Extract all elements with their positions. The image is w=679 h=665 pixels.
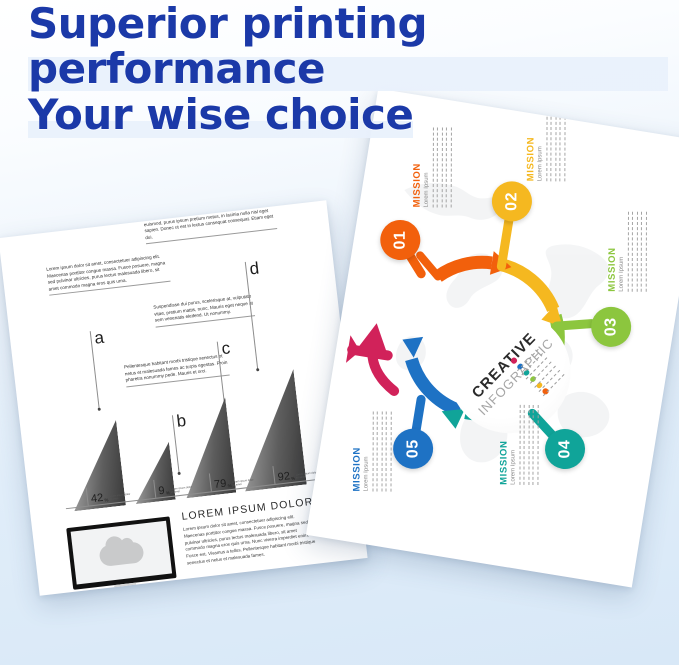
doc-text-block-a: Lorem ipsum dolor sit amet, consectetuer… <box>46 253 171 296</box>
label-03-mission: MISSION <box>607 212 618 292</box>
node-01-number: 01 <box>391 231 409 250</box>
label-01-mission: MISSION <box>412 127 423 207</box>
monitor-screen <box>66 516 176 590</box>
node-03-number: 03 <box>602 317 620 336</box>
document-content: Lorem ipsum dolor sit amet, consectetuer… <box>0 200 368 596</box>
label-03-subtitle: Lorem Ipsum <box>619 212 625 292</box>
doc-label-d: d <box>249 258 261 279</box>
node-02-number: 02 <box>503 192 521 211</box>
label-05-mission: MISSION <box>351 411 362 491</box>
label-04-subtitle: Lorem Ipsum <box>510 405 516 485</box>
label-04-mission: MISSION <box>498 405 509 485</box>
monitor-glass <box>71 521 172 585</box>
doc-text-block-c: Suspendisse dui purus, scelerisque at, v… <box>153 293 255 327</box>
label-01-lines <box>433 127 452 207</box>
headline-line-1: Superior printing performance <box>28 2 668 91</box>
creative-infographic-page: CREATIVE INFOGRAPHIC <box>306 89 679 588</box>
poster-stage: Superior printing performance Your wise … <box>0 0 679 665</box>
label-05-subtitle: Lorem Ipsum <box>363 411 369 491</box>
doc-label-c: c <box>221 338 232 359</box>
percent-value-2: 9 <box>158 486 165 498</box>
cloud-icon <box>98 541 144 567</box>
headline: Superior printing performance Your wise … <box>28 2 668 138</box>
doc-label-a: a <box>93 328 105 349</box>
label-03-lines <box>628 212 647 292</box>
monitor-stand-base <box>103 589 149 596</box>
label-05-lines <box>372 412 391 492</box>
headline-line-2: Your wise choice <box>28 93 413 138</box>
label-04-lines <box>519 405 538 485</box>
node-04-number: 04 <box>556 440 574 459</box>
label-01-subtitle: Lorem Ipsum <box>424 127 430 207</box>
monitor-illustration <box>66 516 178 595</box>
monitor-stand-neck <box>114 583 137 593</box>
node-05-number: 05 <box>404 439 422 458</box>
printed-sample-document-page: Lorem ipsum dolor sit amet, consectetuer… <box>0 200 368 596</box>
doc-text-block-d: Donec blandit feugiat ligula. Donec hend… <box>143 200 277 244</box>
infographic-content: CREATIVE INFOGRAPHIC <box>306 89 679 588</box>
